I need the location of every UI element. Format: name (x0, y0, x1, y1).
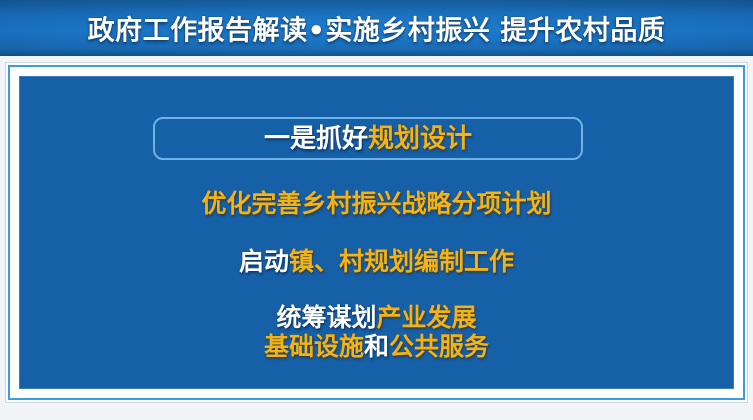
body-line-2: 启动镇、村规划编制工作 (19, 248, 734, 276)
body-line-1-gold: 优化完善乡村振兴战略分项计划 (201, 189, 551, 218)
content-panel: 一是抓好规划设计 优化完善乡村振兴战略分项计划 启动镇、村规划编制工作 统筹谋划… (19, 76, 734, 389)
body-line-4: 基础设施和公共服务 (19, 333, 734, 361)
body-line-2-gold: 镇、村规划编制工作 (289, 247, 514, 276)
heading-highlight-text: 规划设计 (368, 124, 472, 154)
body-line-3-white: 统筹谋划 (276, 303, 376, 332)
heading-box: 一是抓好规划设计 (153, 117, 583, 160)
title-bar: 政府工作报告解读•实施乡村振兴 提升农村品质 (0, 0, 753, 56)
slide-root: 政府工作报告解读•实施乡村振兴 提升农村品质 一是抓好规划设计 优化完善乡村振兴… (0, 0, 753, 420)
body-block-3: 统筹谋划产业发展 基础设施和公共服务 (19, 304, 734, 361)
body-line-3-gold: 产业发展 (377, 303, 477, 332)
body-line-4-gold-a: 基础设施 (264, 332, 364, 361)
body-line-3: 统筹谋划产业发展 (19, 304, 734, 332)
body-line-4-white: 和 (364, 332, 389, 361)
title-bar-text: 政府工作报告解读•实施乡村振兴 提升农村品质 (0, 9, 753, 48)
heading-text: 一是抓好规划设计 (264, 126, 472, 152)
body-line-1: 优化完善乡村振兴战略分项计划 (19, 190, 734, 218)
body-line-4-gold-b: 公共服务 (389, 332, 489, 361)
heading-plain-text: 一是抓好 (264, 124, 368, 154)
body-line-2-white: 启动 (239, 247, 289, 276)
